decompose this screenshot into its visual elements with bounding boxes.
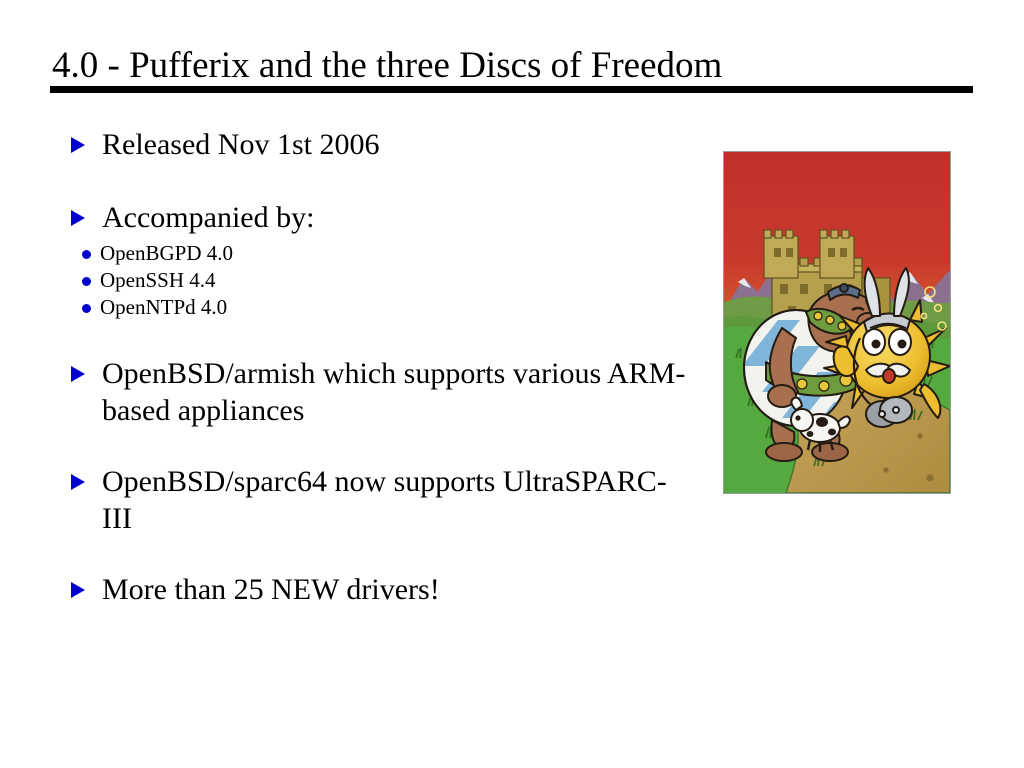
bullet-label: Accompanied by: <box>102 201 314 234</box>
triangle-marker-icon <box>71 366 85 382</box>
bullet-label: OpenBSD/sparc64 now supports UltraSPARC-… <box>102 465 667 535</box>
sub-bullet-label: OpenBGPD 4.0 <box>100 241 233 265</box>
sub-bullet-item: OpenSSH 4.4 <box>66 267 686 294</box>
slide-body-bullet-list: Released Nov 1st 2006 Accompanied by: Op… <box>66 126 686 608</box>
bullet-label: More than 25 NEW drivers! <box>102 573 440 606</box>
dot-marker-icon <box>82 250 91 259</box>
sub-bullet-label: OpenSSH 4.4 <box>100 268 216 292</box>
sub-bullet-item: OpenBGPD 4.0 <box>66 240 686 267</box>
bullet-item-sparc64: OpenBSD/sparc64 now supports UltraSPARC-… <box>66 463 686 537</box>
title-underline-rule <box>50 86 973 93</box>
bullet-item-released: Released Nov 1st 2006 <box>66 126 686 163</box>
bullet-label: OpenBSD/armish which supports various AR… <box>102 357 685 427</box>
triangle-marker-icon <box>71 210 85 226</box>
triangle-marker-icon <box>71 582 85 598</box>
bullet-spacer <box>66 321 686 355</box>
dot-marker-icon <box>82 277 91 286</box>
pufferix-illustration <box>724 152 950 493</box>
bullet-spacer <box>66 429 686 463</box>
release-artwork-image <box>723 151 951 494</box>
slide-title: 4.0 - Pufferix and the three Discs of Fr… <box>52 44 722 88</box>
bullet-item-armish: OpenBSD/armish which supports various AR… <box>66 355 686 429</box>
triangle-marker-icon <box>71 474 85 490</box>
sub-bullet-list: OpenBGPD 4.0 OpenSSH 4.4 OpenNTPd 4.0 <box>66 240 686 321</box>
bullet-item-accompanied-by: Accompanied by: <box>66 199 686 236</box>
sub-bullet-item: OpenNTPd 4.0 <box>66 294 686 321</box>
bullet-spacer <box>66 537 686 571</box>
bullet-label: Released Nov 1st 2006 <box>102 128 379 161</box>
bullet-spacer <box>66 163 686 199</box>
sub-bullet-label: OpenNTPd 4.0 <box>100 295 227 319</box>
triangle-marker-icon <box>71 137 85 153</box>
bullet-item-new-drivers: More than 25 NEW drivers! <box>66 571 686 608</box>
dot-marker-icon <box>82 304 91 313</box>
